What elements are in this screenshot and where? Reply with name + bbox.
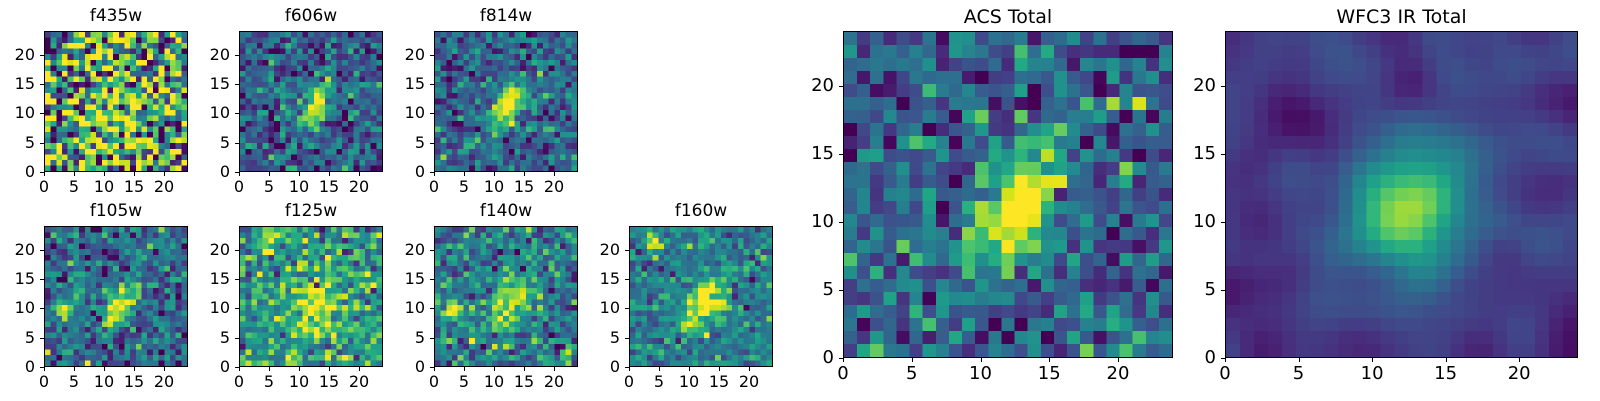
x-ticklabel-f814w-10: 10 (484, 179, 504, 195)
x-tick-acs-total-5 (912, 358, 913, 362)
y-ticklabel-wfc3-ir-total-15: 15 (1165, 145, 1216, 163)
y-tick-f814w-15 (430, 84, 434, 85)
y-ticklabel-f814w-5: 5 (374, 135, 425, 151)
x-ticklabel-f435w-15: 15 (124, 179, 144, 195)
x-tick-wfc3-ir-total-0 (1225, 358, 1226, 362)
y-ticklabel-f814w-20: 20 (374, 47, 425, 63)
x-ticklabel-wfc3-ir-total-0: 0 (1219, 365, 1230, 383)
x-ticklabel-f814w-5: 5 (459, 179, 469, 195)
x-ticklabel-acs-total-5: 5 (906, 365, 917, 383)
y-tick-f606w-15 (235, 84, 239, 85)
x-tick-acs-total-10 (981, 358, 982, 362)
y-tick-f140w-20 (430, 250, 434, 251)
x-tick-f105w-15 (134, 367, 135, 371)
y-tick-f160w-10 (625, 308, 629, 309)
y-ticklabel-f125w-5: 5 (179, 330, 230, 346)
y-tick-f105w-20 (40, 250, 44, 251)
x-ticklabel-f160w-20: 20 (739, 374, 759, 390)
x-tick-f160w-20 (749, 367, 750, 371)
x-ticklabel-f105w-15: 15 (124, 374, 144, 390)
x-tick-f160w-0 (629, 367, 630, 371)
x-ticklabel-f606w-20: 20 (349, 179, 369, 195)
x-tick-f814w-10 (494, 172, 495, 176)
x-tick-f606w-15 (329, 172, 330, 176)
x-tick-f125w-10 (299, 367, 300, 371)
y-tick-f435w-15 (40, 84, 44, 85)
x-tick-f435w-20 (164, 172, 165, 176)
x-ticklabel-wfc3-ir-total-15: 15 (1434, 365, 1457, 383)
y-tick-f435w-0 (40, 172, 44, 173)
y-ticklabel-f160w-15: 15 (569, 271, 620, 287)
x-tick-f435w-10 (104, 172, 105, 176)
y-tick-acs-total-0 (839, 358, 843, 359)
x-ticklabel-f140w-20: 20 (544, 374, 564, 390)
y-ticklabel-f105w-0: 0 (0, 359, 35, 375)
x-ticklabel-f160w-15: 15 (709, 374, 729, 390)
x-tick-f814w-0 (434, 172, 435, 176)
x-tick-f125w-5 (269, 367, 270, 371)
x-tick-wfc3-ir-total-15 (1446, 358, 1447, 362)
x-ticklabel-wfc3-ir-total-20: 20 (1508, 365, 1531, 383)
y-ticklabel-f160w-20: 20 (569, 242, 620, 258)
y-tick-f160w-20 (625, 250, 629, 251)
y-tick-f125w-10 (235, 308, 239, 309)
y-tick-f160w-15 (625, 279, 629, 280)
y-tick-acs-total-20 (839, 86, 843, 87)
heatmap-axes-f160w[interactable] (629, 226, 773, 367)
heatmap-axes-f435w[interactable] (44, 31, 188, 172)
heatmap-axes-f606w[interactable] (239, 31, 383, 172)
x-ticklabel-f105w-0: 0 (39, 374, 49, 390)
y-ticklabel-f105w-15: 15 (0, 271, 35, 287)
y-tick-f125w-5 (235, 338, 239, 339)
y-tick-wfc3-ir-total-15 (1221, 154, 1225, 155)
y-tick-f140w-10 (430, 308, 434, 309)
x-ticklabel-f125w-0: 0 (234, 374, 244, 390)
x-tick-f140w-15 (524, 367, 525, 371)
y-tick-wfc3-ir-total-5 (1221, 290, 1225, 291)
y-ticklabel-wfc3-ir-total-10: 10 (1165, 213, 1216, 231)
y-ticklabel-wfc3-ir-total-20: 20 (1165, 77, 1216, 95)
heatmap-axes-wfc3-ir-total[interactable] (1225, 31, 1578, 358)
y-ticklabel-f606w-0: 0 (179, 164, 230, 180)
y-tick-f814w-5 (430, 143, 434, 144)
x-ticklabel-acs-total-0: 0 (837, 365, 848, 383)
y-ticklabel-f435w-5: 5 (0, 135, 35, 151)
y-tick-wfc3-ir-total-10 (1221, 222, 1225, 223)
x-tick-f125w-20 (359, 367, 360, 371)
y-ticklabel-f814w-0: 0 (374, 164, 425, 180)
x-ticklabel-f160w-10: 10 (679, 374, 699, 390)
y-tick-f105w-10 (40, 308, 44, 309)
x-tick-f160w-15 (719, 367, 720, 371)
y-ticklabel-f606w-15: 15 (179, 76, 230, 92)
y-tick-acs-total-15 (839, 154, 843, 155)
y-tick-wfc3-ir-total-20 (1221, 86, 1225, 87)
y-tick-f140w-5 (430, 338, 434, 339)
x-ticklabel-f435w-10: 10 (94, 179, 114, 195)
y-ticklabel-f105w-5: 5 (0, 330, 35, 346)
heatmap-axes-f105w[interactable] (44, 226, 188, 367)
y-ticklabel-f125w-15: 15 (179, 271, 230, 287)
x-ticklabel-acs-total-15: 15 (1038, 365, 1061, 383)
x-tick-f140w-20 (554, 367, 555, 371)
panel-title-f814w: f814w (374, 8, 638, 25)
y-ticklabel-acs-total-10: 10 (783, 213, 834, 231)
y-tick-f105w-15 (40, 279, 44, 280)
heatmap-image-acs-total (844, 32, 1172, 357)
x-ticklabel-f435w-5: 5 (69, 179, 79, 195)
y-tick-f125w-20 (235, 250, 239, 251)
y-ticklabel-f606w-20: 20 (179, 47, 230, 63)
y-ticklabel-f160w-5: 5 (569, 330, 620, 346)
x-tick-f105w-5 (74, 367, 75, 371)
y-ticklabel-acs-total-0: 0 (783, 349, 834, 367)
x-ticklabel-f606w-5: 5 (264, 179, 274, 195)
x-tick-f435w-0 (44, 172, 45, 176)
y-tick-f105w-5 (40, 338, 44, 339)
y-tick-f140w-15 (430, 279, 434, 280)
y-tick-wfc3-ir-total-0 (1221, 358, 1225, 359)
x-tick-f435w-15 (134, 172, 135, 176)
panel-wfc3-ir-total: WFC3 IR Total0510152005101520 (1165, 5, 1600, 392)
y-ticklabel-f160w-10: 10 (569, 300, 620, 316)
heatmap-image-f435w (45, 32, 187, 171)
y-tick-f435w-10 (40, 113, 44, 114)
x-tick-f105w-0 (44, 367, 45, 371)
x-ticklabel-f140w-5: 5 (459, 374, 469, 390)
y-ticklabel-f125w-10: 10 (179, 300, 230, 316)
x-ticklabel-f125w-20: 20 (349, 374, 369, 390)
heatmap-image-f125w (240, 227, 382, 366)
x-ticklabel-f140w-0: 0 (429, 374, 439, 390)
x-tick-f435w-5 (74, 172, 75, 176)
x-ticklabel-f814w-15: 15 (514, 179, 534, 195)
panel-title-wfc3-ir-total: WFC3 IR Total (1165, 8, 1600, 27)
x-tick-f105w-20 (164, 367, 165, 371)
y-ticklabel-acs-total-5: 5 (783, 281, 834, 299)
y-ticklabel-f125w-20: 20 (179, 242, 230, 258)
heatmap-axes-f125w[interactable] (239, 226, 383, 367)
x-ticklabel-acs-total-20: 20 (1107, 365, 1130, 383)
y-tick-f814w-10 (430, 113, 434, 114)
y-ticklabel-f125w-0: 0 (179, 359, 230, 375)
x-ticklabel-f105w-5: 5 (69, 374, 79, 390)
x-ticklabel-f160w-0: 0 (624, 374, 634, 390)
y-ticklabel-f140w-10: 10 (374, 300, 425, 316)
y-tick-f160w-0 (625, 367, 629, 368)
x-ticklabel-f140w-10: 10 (484, 374, 504, 390)
x-ticklabel-f105w-20: 20 (154, 374, 174, 390)
x-tick-f140w-0 (434, 367, 435, 371)
panel-f814w: f814w0510152005101520 (374, 5, 638, 206)
x-tick-wfc3-ir-total-20 (1519, 358, 1520, 362)
y-tick-f814w-20 (430, 55, 434, 56)
heatmap-axes-f814w[interactable] (434, 31, 578, 172)
x-ticklabel-f435w-20: 20 (154, 179, 174, 195)
x-ticklabel-f125w-5: 5 (264, 374, 274, 390)
x-tick-f125w-0 (239, 367, 240, 371)
x-ticklabel-wfc3-ir-total-5: 5 (1293, 365, 1304, 383)
x-ticklabel-f125w-10: 10 (289, 374, 309, 390)
x-tick-wfc3-ir-total-5 (1299, 358, 1300, 362)
x-ticklabel-f125w-15: 15 (319, 374, 339, 390)
y-ticklabel-acs-total-20: 20 (783, 77, 834, 95)
y-ticklabel-f140w-0: 0 (374, 359, 425, 375)
y-ticklabel-f140w-5: 5 (374, 330, 425, 346)
x-ticklabel-f105w-10: 10 (94, 374, 114, 390)
x-ticklabel-f140w-15: 15 (514, 374, 534, 390)
heatmap-image-f606w (240, 32, 382, 171)
heatmap-image-wfc3-ir-total (1226, 32, 1577, 357)
x-tick-f606w-10 (299, 172, 300, 176)
x-tick-f606w-5 (269, 172, 270, 176)
y-ticklabel-f814w-10: 10 (374, 105, 425, 121)
y-tick-f814w-0 (430, 172, 434, 173)
heatmap-axes-acs-total[interactable] (843, 31, 1173, 358)
y-ticklabel-f606w-10: 10 (179, 105, 230, 121)
x-tick-f606w-20 (359, 172, 360, 176)
x-tick-f814w-5 (464, 172, 465, 176)
x-tick-wfc3-ir-total-10 (1372, 358, 1373, 362)
x-ticklabel-f606w-0: 0 (234, 179, 244, 195)
y-ticklabel-f105w-10: 10 (0, 300, 35, 316)
y-tick-f606w-5 (235, 143, 239, 144)
y-ticklabel-f140w-20: 20 (374, 242, 425, 258)
x-tick-f606w-0 (239, 172, 240, 176)
x-tick-f125w-15 (329, 367, 330, 371)
x-tick-f814w-15 (524, 172, 525, 176)
x-ticklabel-wfc3-ir-total-10: 10 (1361, 365, 1384, 383)
y-tick-f160w-5 (625, 338, 629, 339)
y-ticklabel-wfc3-ir-total-0: 0 (1165, 349, 1216, 367)
y-ticklabel-f435w-15: 15 (0, 76, 35, 92)
y-tick-f606w-0 (235, 172, 239, 173)
x-tick-f814w-20 (554, 172, 555, 176)
x-tick-f105w-10 (104, 367, 105, 371)
x-ticklabel-f435w-0: 0 (39, 179, 49, 195)
y-tick-f125w-15 (235, 279, 239, 280)
y-ticklabel-f435w-20: 20 (0, 47, 35, 63)
y-tick-acs-total-5 (839, 290, 843, 291)
figure-canvas: f435w0510152005101520f606w05101520051015… (0, 0, 1600, 400)
x-ticklabel-acs-total-10: 10 (969, 365, 992, 383)
y-tick-f606w-20 (235, 55, 239, 56)
y-ticklabel-f140w-15: 15 (374, 271, 425, 287)
heatmap-image-f814w (435, 32, 577, 171)
heatmap-image-f105w (45, 227, 187, 366)
y-ticklabel-f160w-0: 0 (569, 359, 620, 375)
y-ticklabel-f606w-5: 5 (179, 135, 230, 151)
x-tick-acs-total-0 (843, 358, 844, 362)
y-ticklabel-f435w-0: 0 (0, 164, 35, 180)
x-tick-acs-total-15 (1049, 358, 1050, 362)
x-ticklabel-f606w-15: 15 (319, 179, 339, 195)
y-tick-f140w-0 (430, 367, 434, 368)
x-ticklabel-f160w-5: 5 (654, 374, 664, 390)
x-ticklabel-f606w-10: 10 (289, 179, 309, 195)
y-tick-f435w-20 (40, 55, 44, 56)
y-ticklabel-f814w-15: 15 (374, 76, 425, 92)
x-tick-f160w-10 (689, 367, 690, 371)
x-ticklabel-f814w-0: 0 (429, 179, 439, 195)
y-tick-f125w-0 (235, 367, 239, 368)
y-ticklabel-wfc3-ir-total-5: 5 (1165, 281, 1216, 299)
y-ticklabel-acs-total-15: 15 (783, 145, 834, 163)
x-tick-f140w-5 (464, 367, 465, 371)
x-tick-acs-total-20 (1118, 358, 1119, 362)
y-tick-acs-total-10 (839, 222, 843, 223)
heatmap-image-f140w (435, 227, 577, 366)
y-tick-f105w-0 (40, 367, 44, 368)
x-ticklabel-f814w-20: 20 (544, 179, 564, 195)
heatmap-image-f160w (630, 227, 772, 366)
heatmap-axes-f140w[interactable] (434, 226, 578, 367)
y-ticklabel-f435w-10: 10 (0, 105, 35, 121)
y-ticklabel-f105w-20: 20 (0, 242, 35, 258)
x-tick-f140w-10 (494, 367, 495, 371)
x-tick-f160w-5 (659, 367, 660, 371)
y-tick-f606w-10 (235, 113, 239, 114)
y-tick-f435w-5 (40, 143, 44, 144)
